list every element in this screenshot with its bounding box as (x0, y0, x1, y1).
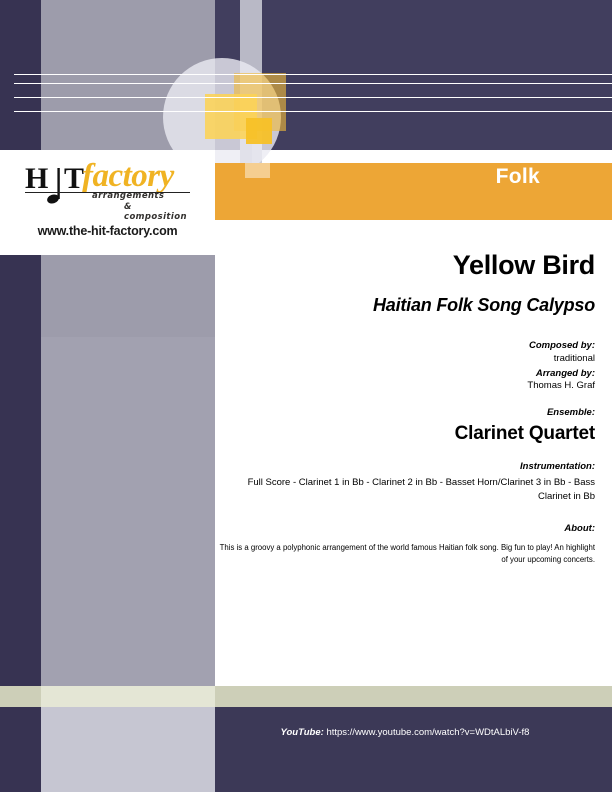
genre-banner (215, 163, 612, 220)
arranged-by-label: Arranged by: (215, 368, 595, 381)
footer-navy-panel (215, 707, 612, 792)
about-value: This is a groovy a polyphonic arrangemen… (215, 542, 595, 566)
top-left-navy-block (0, 0, 41, 150)
genre-banner-notch (245, 163, 270, 178)
about-label: About: (215, 523, 595, 536)
work-subtitle: Haitian Folk Song Calypso (215, 295, 595, 316)
logo-letter-t: T (64, 162, 84, 196)
work-title: Yellow Bird (215, 250, 595, 281)
youtube-link[interactable]: YouTube: https://www.youtube.com/watch?v… (215, 727, 595, 738)
logo-word-factory: factory (82, 158, 174, 195)
logo-wordmark: H T factory arrangements & composition (20, 162, 195, 214)
composed-by-value: traditional (215, 353, 595, 366)
instrumentation-label: Instrumentation: (215, 461, 595, 474)
cover-page: Folk H T factory arrangements & composit… (0, 0, 612, 792)
credits-block: Composed by: traditional Arranged by: Th… (215, 340, 595, 393)
gold-rectangle-front (246, 118, 272, 144)
staff-line (14, 97, 612, 98)
instrumentation-value: Full Score - Clarinet 1 in Bb - Clarinet… (215, 476, 595, 504)
staff-line (14, 83, 612, 84)
staff-line (14, 111, 612, 112)
youtube-label: YouTube: (281, 727, 324, 738)
publisher-website[interactable]: www.the-hit-factory.com (38, 224, 178, 238)
ensemble-value: Clarinet Quartet (215, 423, 595, 445)
footer-gray-column (41, 707, 215, 792)
staff-line (14, 74, 612, 75)
logo-tagline-line2: & composition (124, 202, 195, 222)
sage-divider-highlight (41, 686, 215, 707)
ensemble-label: Ensemble: (215, 407, 595, 420)
arranged-by-value: Thomas H. Graf (215, 380, 595, 393)
publisher-logo: H T factory arrangements & composition w… (0, 150, 215, 255)
work-info: Yellow Bird Haitian Folk Song Calypso Co… (215, 250, 595, 566)
gray-column-lower (41, 337, 215, 686)
youtube-url[interactable]: https://www.youtube.com/watch?v=WDtALbiV… (326, 727, 529, 738)
logo-tagline-line1: arrangements (92, 191, 164, 201)
composed-by-label: Composed by: (215, 340, 595, 353)
logo-letter-h: H (25, 162, 48, 196)
genre-label: Folk (496, 165, 540, 189)
